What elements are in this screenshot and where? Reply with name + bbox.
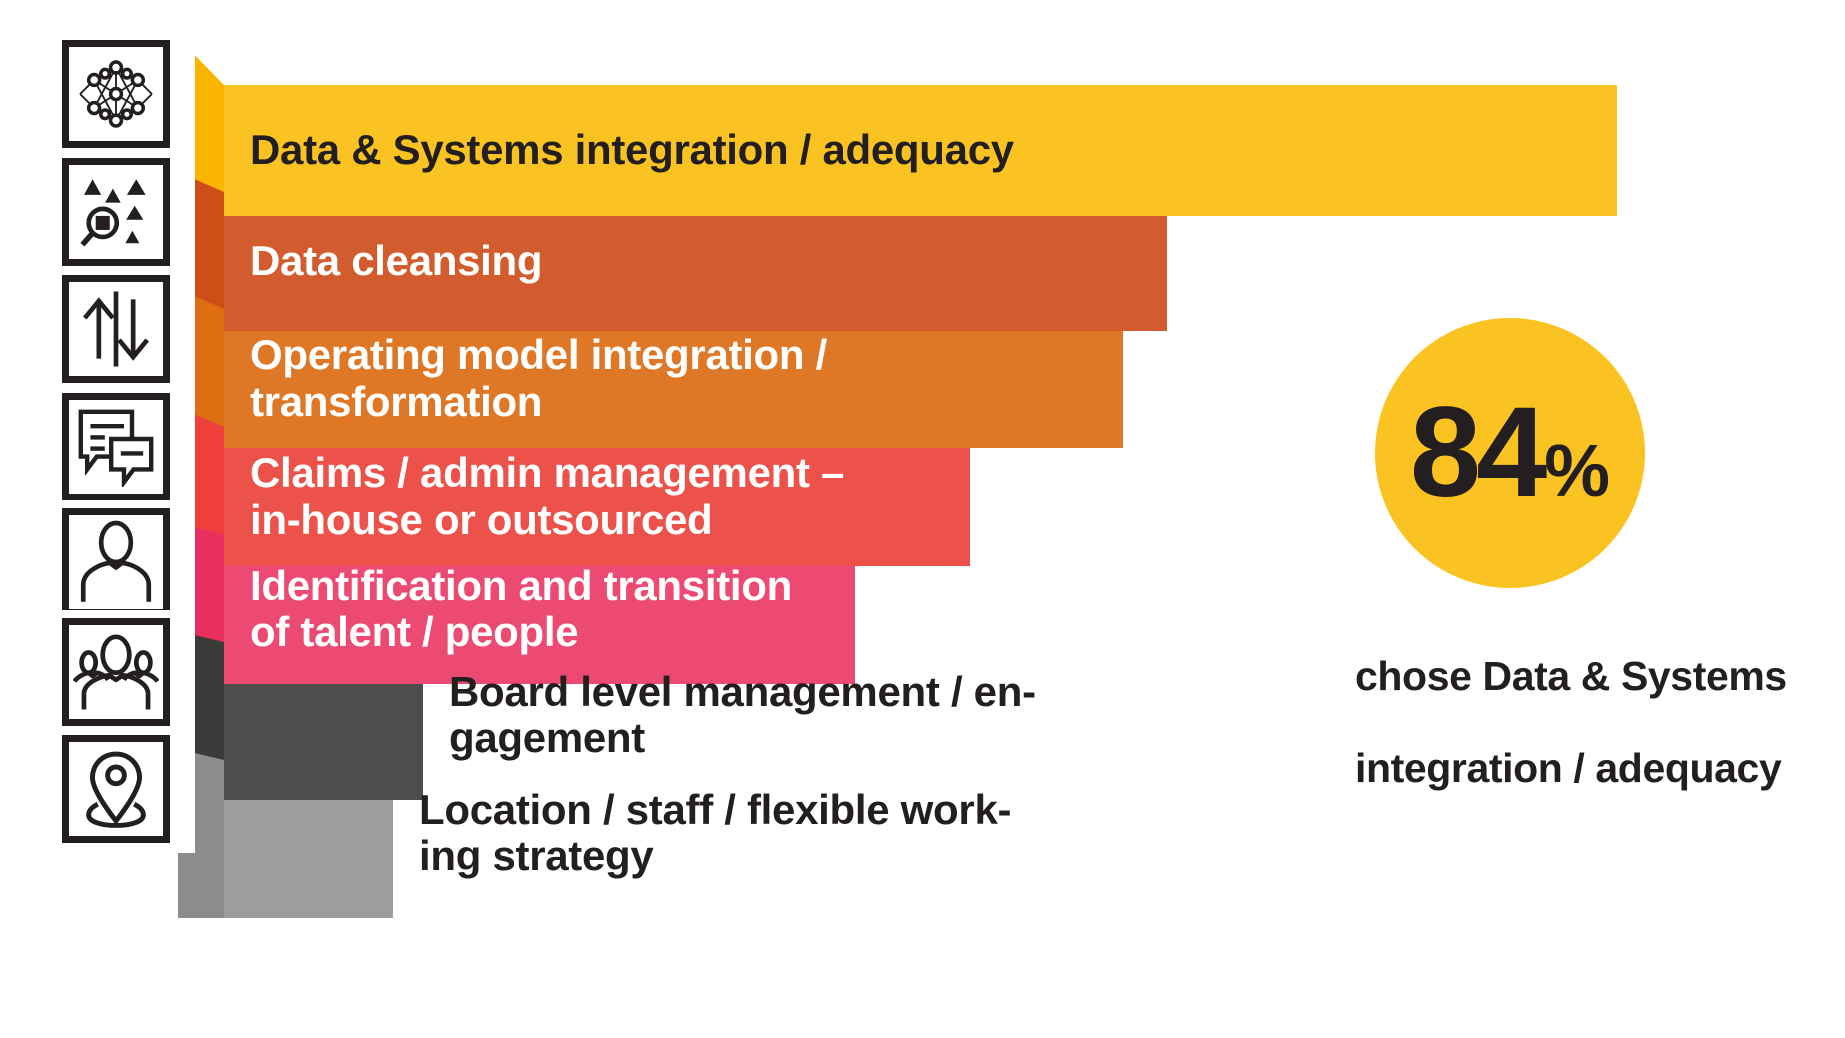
bar-label: Board level management / en- gagement bbox=[449, 669, 1036, 761]
infographic-canvas: Data & Systems integration / adequacyDat… bbox=[0, 0, 1845, 1038]
bar-label: Claims / admin management – in-house or … bbox=[224, 450, 844, 542]
highlight-stat: 84 % chose Data & Systems integration / … bbox=[1355, 318, 1825, 738]
bar-label: Identification and transition of talent … bbox=[224, 563, 792, 655]
stat-number: 84 bbox=[1410, 389, 1542, 517]
bar-label: Data cleansing bbox=[224, 238, 542, 284]
transfer-arrows-icon bbox=[62, 275, 170, 383]
chat-bubbles-icon bbox=[62, 393, 170, 501]
stat-caption-line2: integration / adequacy bbox=[1355, 746, 1825, 792]
data-cleansing-icon bbox=[62, 158, 170, 266]
stat-circle: 84 % bbox=[1375, 318, 1645, 588]
stat-caption-line1: chose Data & Systems bbox=[1355, 654, 1825, 700]
person-icon bbox=[62, 508, 170, 616]
stat-percent-symbol: % bbox=[1544, 434, 1610, 508]
neural-network-icon bbox=[62, 40, 170, 148]
bar-row[interactable]: Data & Systems integration / adequacy bbox=[224, 85, 1617, 216]
people-group-icon bbox=[62, 618, 170, 726]
bar-label: Operating model integration / transforma… bbox=[224, 332, 827, 424]
bar-label: Location / staff / flexible work- ing st… bbox=[419, 787, 1011, 879]
location-pin-icon bbox=[62, 735, 170, 843]
icon-column bbox=[0, 0, 200, 1038]
bar-label: Data & Systems integration / adequacy bbox=[224, 127, 1014, 173]
stat-caption: chose Data & Systems integration / adequ… bbox=[1355, 608, 1825, 838]
